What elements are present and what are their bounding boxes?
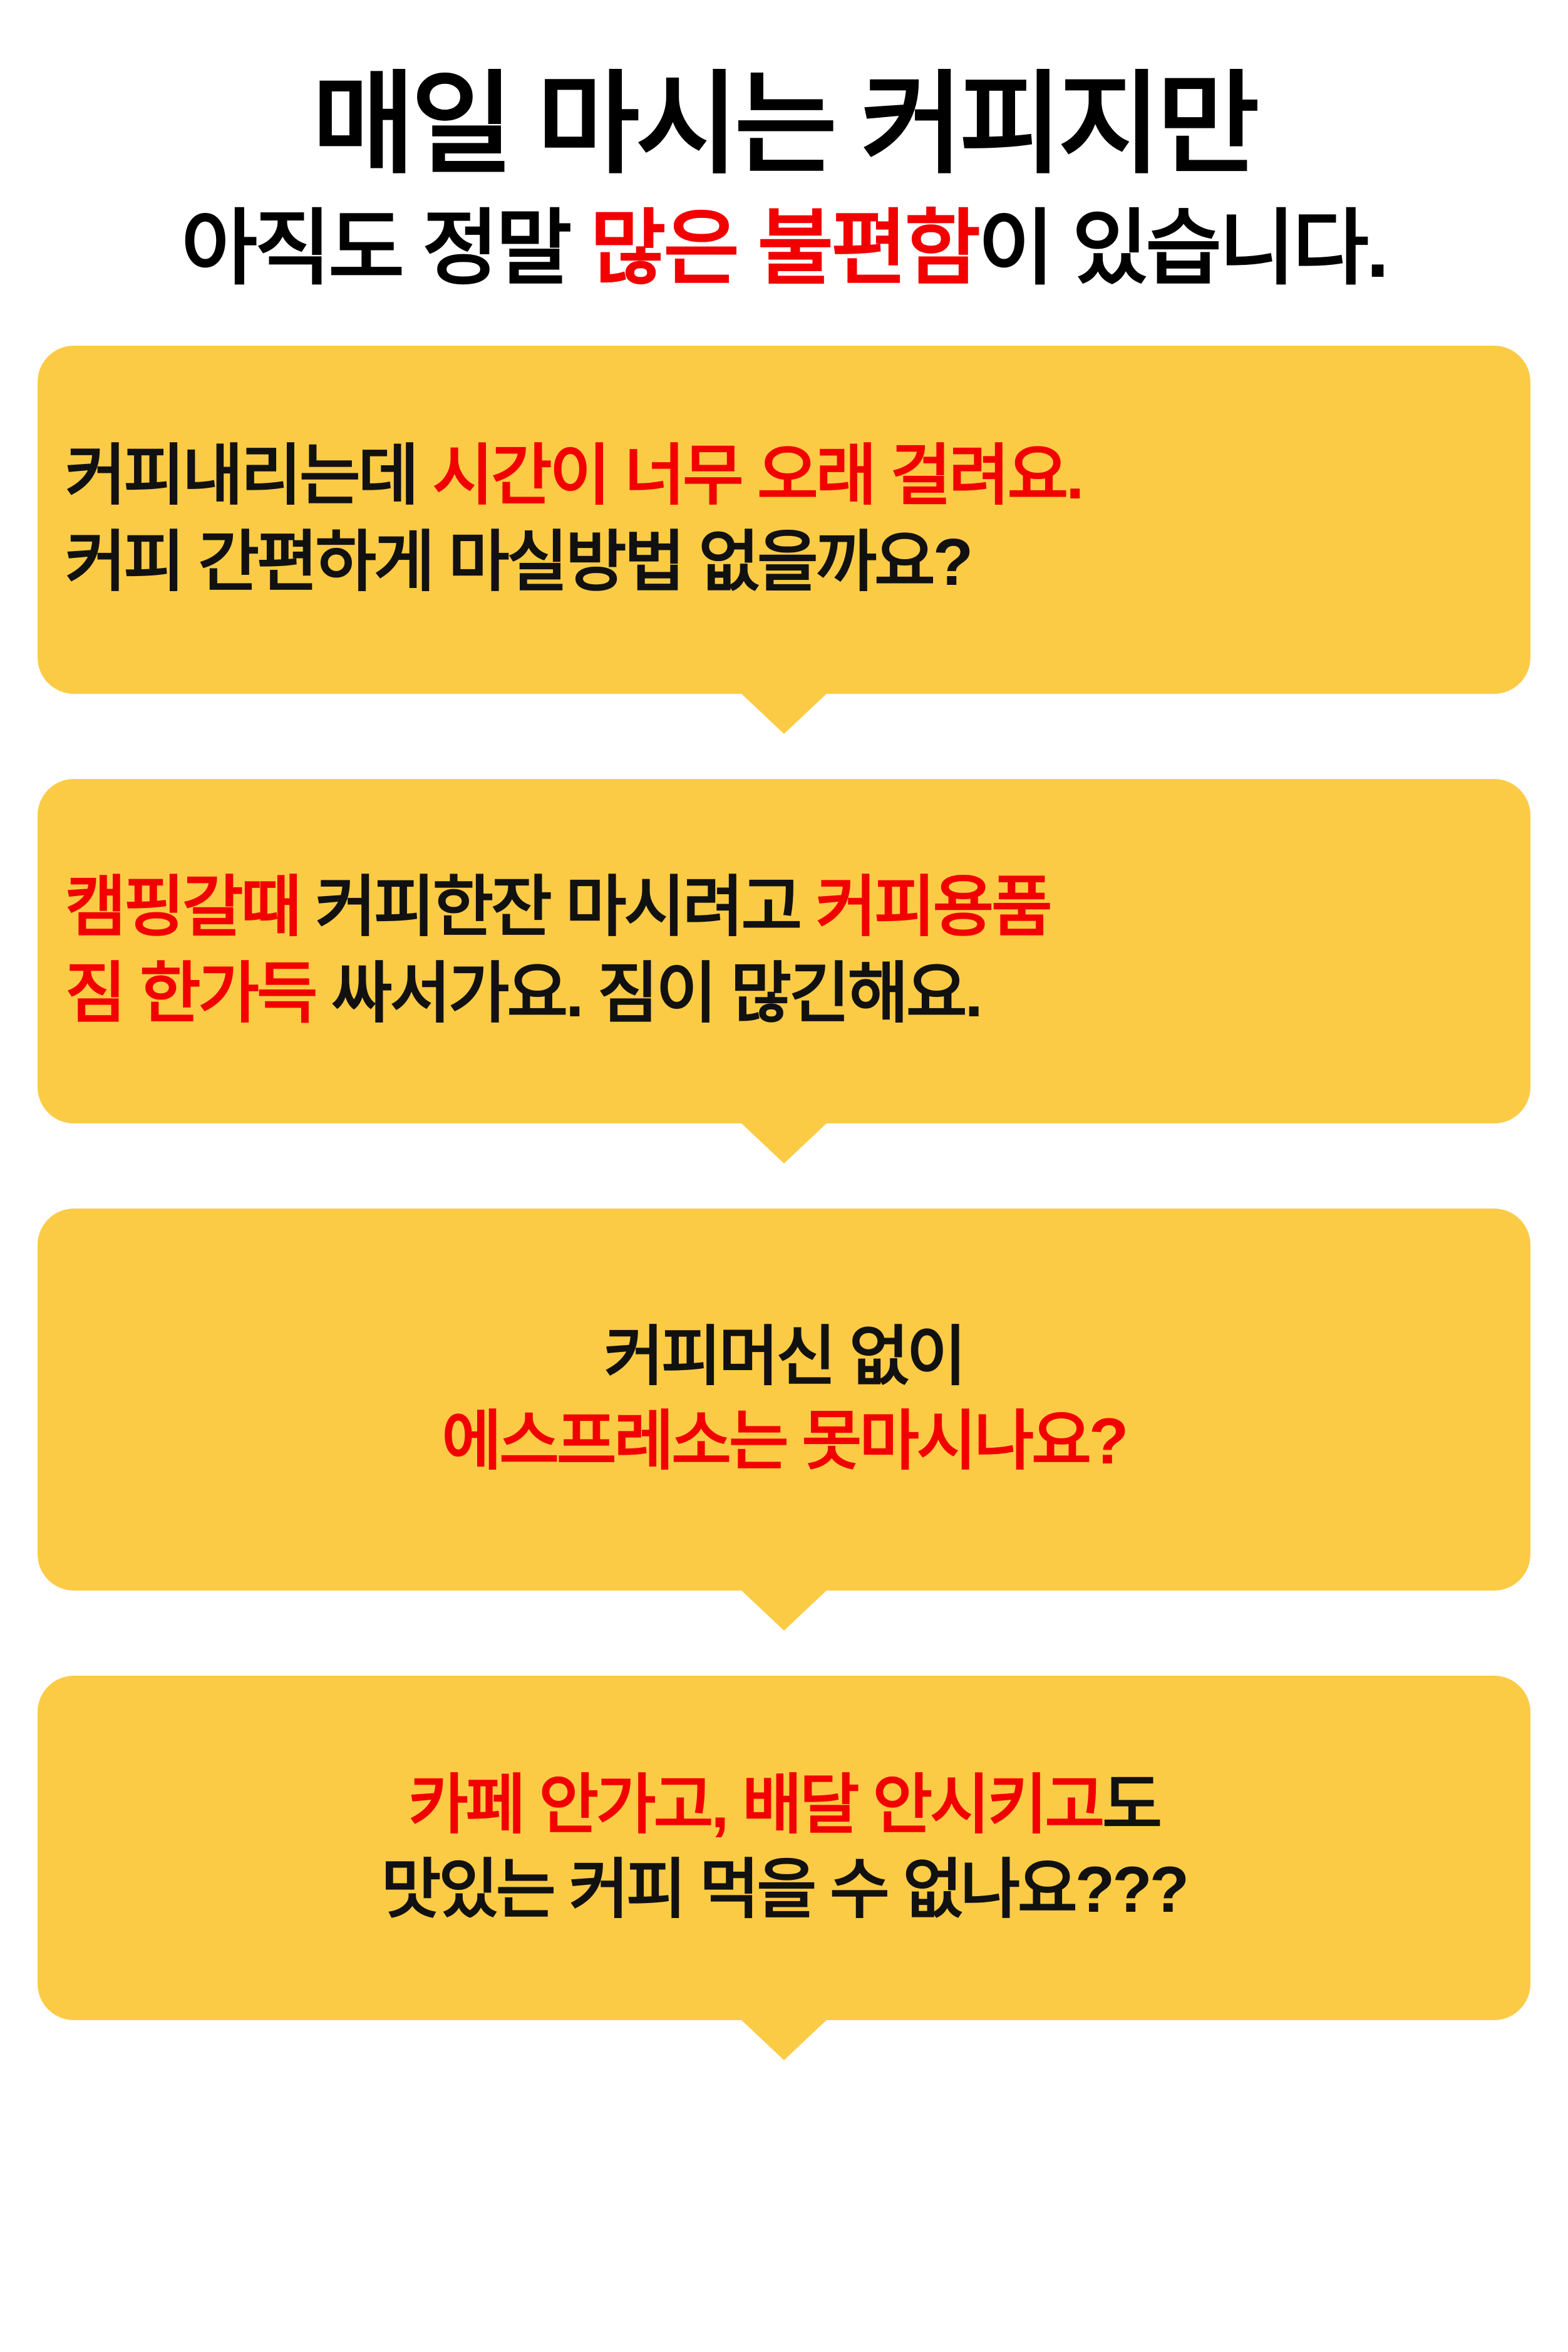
highlight-text: 캠핑갈때 xyxy=(65,870,316,944)
speech-bubble: 카페 안가고, 배달 안시키고도맛있는 커피 먹을 수 없나요??? xyxy=(38,1676,1530,2020)
speech-bubble-line: 에스프레소는 못마시나요? xyxy=(65,1400,1503,1484)
speech-bubble-line: 커피 간편하게 마실방법 없을까요? xyxy=(65,520,1503,606)
speech-bubble: 커피머신 없이에스프레소는 못마시나요? xyxy=(38,1209,1530,1591)
speech-bubble-line: 짐 한가득 싸서가요. 짐이 많긴해요. xyxy=(65,951,1503,1038)
poster-header: 매일 마시는 커피지만 아직도 정말 많은 불편함이 있습니다. xyxy=(0,0,1568,293)
subtitle-text-after: 이 있습니다. xyxy=(978,202,1387,294)
highlight-text: 카페 안가고, 배달 안시키고 xyxy=(408,1769,1102,1842)
speech-bubble-line: 캠핑갈때 커피한잔 마시려고 커피용품 xyxy=(65,865,1503,951)
body-text: 커피 간편하게 마실방법 없을까요? xyxy=(65,525,971,599)
poster-root: 매일 마시는 커피지만 아직도 정말 많은 불편함이 있습니다. 커피내리는데 … xyxy=(0,0,1568,2352)
page-subtitle: 아직도 정말 많은 불편함이 있습니다. xyxy=(0,204,1568,294)
subtitle-accent-text: 많은 불편함 xyxy=(590,202,978,294)
highlight-text: 커피용품 xyxy=(816,870,1050,944)
speech-bubble-line: 맛있는 커피 먹을 수 없나요??? xyxy=(65,1848,1503,1932)
speech-bubble-list: 커피내리는데 시간이 너무 오래 걸려요.커피 간편하게 마실방법 없을까요?캠… xyxy=(0,346,1568,2020)
speech-bubble-line: 커피내리는데 시간이 너무 오래 걸려요. xyxy=(65,433,1503,520)
highlight-text: 시간이 너무 오래 걸려요. xyxy=(433,439,1082,513)
body-text: 커피머신 없이 xyxy=(604,1321,964,1393)
subtitle-text-before: 아직도 정말 xyxy=(182,202,591,294)
speech-bubble-line: 카페 안가고, 배달 안시키고도 xyxy=(65,1763,1503,1848)
body-text: 도 xyxy=(1102,1769,1160,1842)
body-text: 커피한잔 마시려고 xyxy=(316,870,816,944)
speech-bubble: 커피내리는데 시간이 너무 오래 걸려요.커피 간편하게 마실방법 없을까요? xyxy=(38,346,1530,694)
body-text: 커피내리는데 xyxy=(65,439,433,513)
highlight-text: 짐 한가득 xyxy=(65,957,331,1031)
page-title: 매일 마시는 커피지만 xyxy=(0,68,1568,182)
body-text: 싸서가요. 짐이 많긴해요. xyxy=(331,957,981,1031)
speech-bubble: 캠핑갈때 커피한잔 마시려고 커피용품짐 한가득 싸서가요. 짐이 많긴해요. xyxy=(38,779,1530,1123)
highlight-text: 에스프레소는 못마시나요? xyxy=(442,1405,1127,1478)
body-text: 맛있는 커피 먹을 수 없나요??? xyxy=(381,1854,1187,1926)
speech-bubble-line: 커피머신 없이 xyxy=(65,1315,1503,1400)
